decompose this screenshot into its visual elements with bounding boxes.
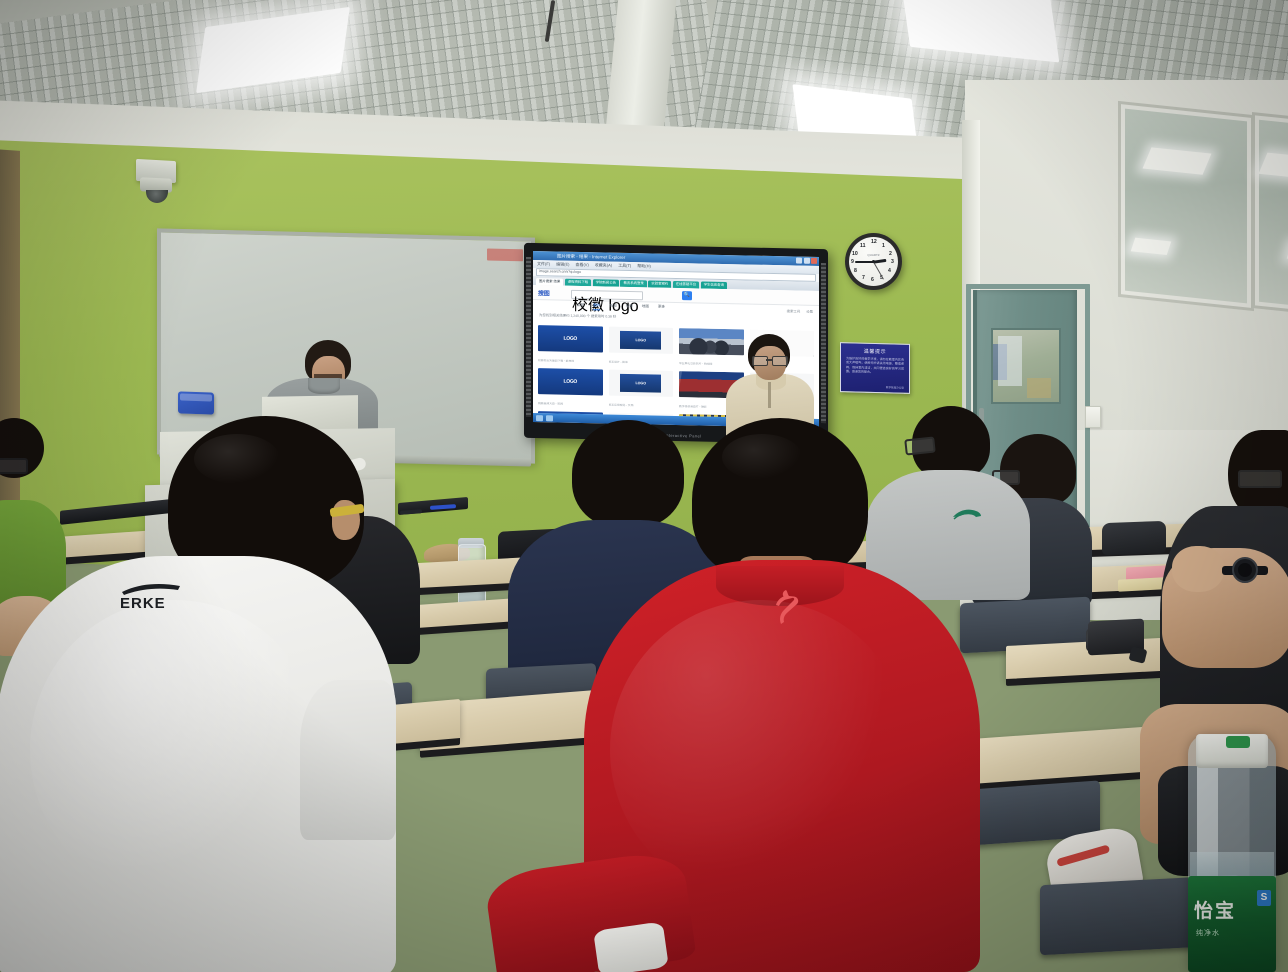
result-thumbnail[interactable]: LOGO	[538, 368, 603, 395]
tool-tab-video[interactable]: 视频	[626, 304, 633, 311]
menu-item-edit[interactable]: 编辑(E)	[556, 261, 569, 267]
clock-numeral: 11	[860, 243, 865, 249]
result-item[interactable]: LOGO 标志设计 - 图库	[609, 327, 674, 366]
student-arm	[300, 680, 396, 840]
student-hand	[1172, 546, 1224, 592]
result-caption: 毕业典礼合影照片 - 新闻网	[679, 362, 744, 367]
notice-title: 温馨提示	[841, 347, 909, 356]
interior-window	[1118, 101, 1254, 311]
result-count-text: 为您找到相关结果约 1,240,000 个 搜索用时 0.38 秒	[539, 313, 616, 320]
clock-numeral: 1	[882, 243, 885, 249]
glasses-icon	[904, 436, 936, 455]
start-icon[interactable]	[536, 415, 543, 421]
notice-body: 为维护良好的教学环境，请勿在教室内饮食或大声喧哗；使用完毕请关闭电源、整理桌椅，…	[846, 356, 904, 375]
glasses-icon	[752, 356, 788, 364]
glasses-icon	[1238, 470, 1282, 488]
browser-icon[interactable]	[546, 415, 553, 421]
wristwatch	[1222, 556, 1268, 584]
clock-numeral: 10	[852, 251, 858, 257]
window-controls[interactable]	[796, 258, 817, 264]
clock-hour-hand	[873, 258, 886, 262]
reflected-light-icon	[1131, 238, 1172, 255]
clock-numeral: 12	[871, 239, 877, 245]
close-icon[interactable]	[811, 258, 817, 264]
maximize-icon[interactable]	[804, 258, 810, 264]
clock-brand-label: QUARTZ	[867, 253, 879, 257]
reflected-light-icon	[1259, 153, 1288, 180]
shirt-highlight	[30, 600, 320, 900]
puma-logo-icon	[952, 508, 982, 520]
window-glass	[1125, 109, 1247, 304]
settings-button[interactable]: 设置	[806, 309, 813, 314]
result-caption: 标志设计 - 图库	[609, 360, 674, 365]
search-meta[interactable]: 搜索工具 设置	[787, 308, 813, 314]
display-speaker	[526, 257, 531, 417]
display-speaker	[821, 263, 826, 423]
result-thumbnail[interactable]: LOGO	[609, 327, 674, 354]
clock-numeral: 6	[871, 277, 874, 283]
menu-item-file[interactable]: 文件(F)	[537, 261, 550, 267]
clock-numeral: 7	[862, 275, 865, 281]
result-thumbnail[interactable]: LOGO	[538, 325, 603, 352]
tool-tab-news[interactable]: 新闻	[609, 304, 616, 311]
student-sock	[593, 921, 669, 972]
result-item[interactable]: LOGO 标志应用规范 - 文档	[609, 370, 674, 409]
bottle-cap-seal	[1226, 736, 1250, 748]
bottle-sub-text: 纯净水	[1196, 928, 1220, 938]
clock-numeral: 9	[851, 259, 854, 265]
result-item[interactable]: 毕业典礼合影照片 - 新闻网	[679, 328, 744, 367]
clock-center-pin	[872, 260, 875, 263]
result-thumbnail[interactable]: LOGO	[609, 370, 674, 397]
backpack	[1102, 521, 1166, 555]
site-logo[interactable]: 搜图	[538, 288, 549, 297]
shirt-highlight	[610, 600, 910, 900]
clock-second-hand	[873, 261, 884, 279]
tool-tab-images[interactable]: 图片	[593, 303, 600, 310]
search-icon[interactable]: 🔍	[682, 291, 692, 300]
result-item[interactable]: LOGO 院徽高清大图 - 官网	[538, 368, 603, 407]
tool-tab-more[interactable]: 更多	[658, 305, 665, 312]
bottle-label: 怡宝 纯净水 S	[1188, 876, 1276, 972]
browser-window-title: 图片搜索 - 结果 - Internet Explorer	[557, 253, 625, 260]
clock-numeral: 3	[891, 259, 894, 265]
clock-face: 12 1 2 3 4 5 6 7 8 9 10 11 QUARTZ	[849, 237, 898, 286]
tool-tab-all[interactable]: 全部	[577, 303, 584, 310]
menu-item-help[interactable]: 帮助(H)	[637, 263, 651, 269]
reflected-light-icon	[1143, 147, 1212, 174]
student-head	[572, 420, 684, 528]
result-caption: 院徽高清大图 - 官网	[538, 402, 603, 407]
window-glass	[1259, 120, 1288, 309]
wall-clock: 12 1 2 3 4 5 6 7 8 9 10 11 QUARTZ	[845, 233, 902, 290]
jordan-jumpman-logo-icon	[770, 588, 800, 628]
presenter-placket	[768, 382, 771, 408]
menu-item-favorites[interactable]: 收藏夹(A)	[595, 262, 612, 268]
glasses-icon	[0, 458, 28, 474]
clock-minute-hand	[855, 261, 874, 263]
interior-window	[1252, 112, 1288, 316]
search-tools-button[interactable]: 搜索工具	[787, 308, 801, 313]
clock-numeral: 2	[889, 251, 892, 257]
result-caption: 校徽标志矢量图下载 - 素材网	[538, 359, 603, 364]
result-item[interactable]: LOGO 校徽标志矢量图下载 - 素材网	[538, 325, 603, 364]
menu-item-view[interactable]: 查看(V)	[575, 262, 588, 268]
bottle-mark-icon: S	[1257, 890, 1271, 906]
minimize-icon[interactable]	[796, 258, 802, 264]
classroom-photo: Smart Interactive Panel 图片搜索 - 结果 - Inte…	[0, 0, 1288, 972]
result-caption: 标志应用规范 - 文档	[609, 403, 674, 408]
notice-signature: 教学管理办公室	[886, 385, 904, 389]
whiteboard-brand-label	[487, 248, 523, 261]
clock-numeral: 8	[854, 268, 857, 274]
instructor-collar	[308, 378, 340, 394]
menu-item-tools[interactable]: 工具(T)	[618, 263, 631, 269]
notice-sign: 温馨提示 为维护良好的教学环境，请勿在教室内饮食或大声喧哗；使用完毕请关闭电源、…	[840, 342, 910, 394]
erke-logo-icon: ERKE	[118, 582, 196, 610]
tool-tab-map[interactable]: 地图	[642, 304, 649, 311]
bottle-brand-text: 怡宝	[1194, 896, 1236, 923]
whiteboard-eraser	[178, 391, 214, 414]
svg-text:ERKE: ERKE	[120, 595, 166, 610]
result-thumbnail[interactable]	[679, 328, 744, 355]
clock-numeral: 4	[888, 268, 891, 274]
search-input[interactable]: 校徽 logo	[571, 289, 643, 300]
light-switch[interactable]	[1085, 406, 1101, 428]
